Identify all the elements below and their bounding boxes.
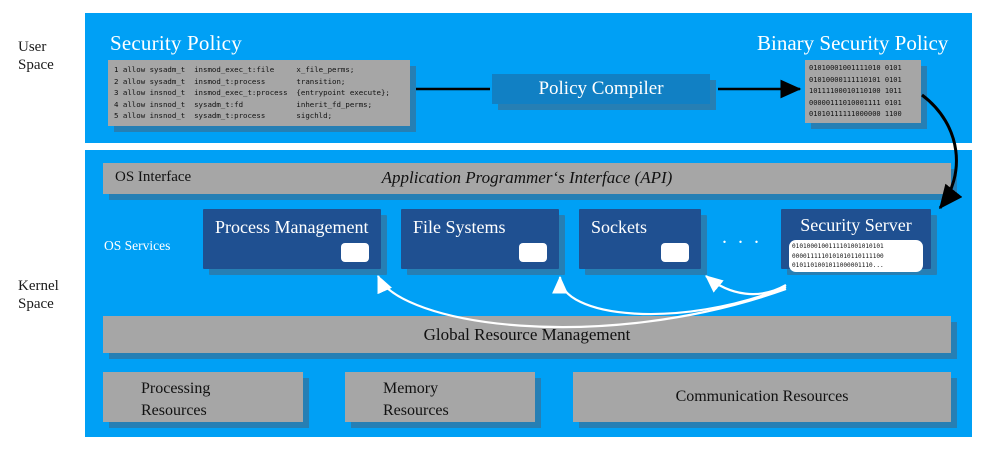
resource-box-communication: Communication Resources — [573, 372, 951, 422]
binary-security-policy-text: 01010001001111010 0101 01010000111110101… — [809, 63, 917, 121]
user-space-label: User Space — [18, 38, 54, 74]
os-services-label: OS Services — [104, 238, 170, 254]
service-box-file-systems[interactable]: File Systems — [401, 209, 559, 269]
policy-compiler-box[interactable]: Policy Compiler — [492, 74, 710, 104]
service-box-sockets[interactable]: Sockets — [579, 209, 701, 269]
services-ellipsis: . . . — [722, 226, 762, 249]
service-port-icon — [519, 243, 547, 262]
kernel-space-label: Kernel Space — [18, 277, 59, 313]
service-label-file-systems: File Systems — [413, 215, 506, 239]
global-resource-management-bar: Global Resource Management — [103, 316, 951, 353]
api-label: Application Programmer‘s Interface (API) — [103, 168, 951, 188]
diagram-canvas: User Space Kernel Space Security Policy … — [0, 0, 1002, 450]
policy-compiler-label: Policy Compiler — [538, 78, 663, 100]
security-server-binary-text: 0101000100111101001010101 00001111101010… — [792, 242, 920, 271]
security-policy-code-text: 1 allow sysadm_t insmod_exec_t:file x_fi… — [114, 64, 404, 122]
service-box-process-management[interactable]: Process Management — [203, 209, 381, 269]
resource-label-communication: Communication Resources — [573, 386, 951, 408]
resource-box-processing: Processing Resources — [103, 372, 303, 422]
service-label-sockets: Sockets — [591, 215, 647, 239]
service-label-security-server: Security Server — [781, 213, 931, 237]
resource-box-memory: Memory Resources — [345, 372, 535, 422]
resource-label-processing: Processing Resources — [141, 378, 210, 422]
binary-security-policy-title: Binary Security Policy — [757, 31, 948, 56]
global-resource-management-label: Global Resource Management — [424, 325, 631, 345]
security-policy-code-box: 1 allow sysadm_t insmod_exec_t:file x_fi… — [108, 60, 410, 126]
resource-label-memory: Memory Resources — [383, 378, 449, 422]
os-interface-bar: OS Interface Application Programmer‘s In… — [103, 163, 951, 194]
service-label-process-management: Process Management — [215, 215, 368, 239]
binary-security-policy-box: 01010001001111010 0101 01010000111110101… — [805, 60, 921, 123]
service-port-icon — [341, 243, 369, 262]
service-port-icon — [661, 243, 689, 262]
security-policy-title: Security Policy — [110, 31, 242, 56]
security-server-binary-box: 0101000100111101001010101 00001111101010… — [789, 240, 923, 272]
